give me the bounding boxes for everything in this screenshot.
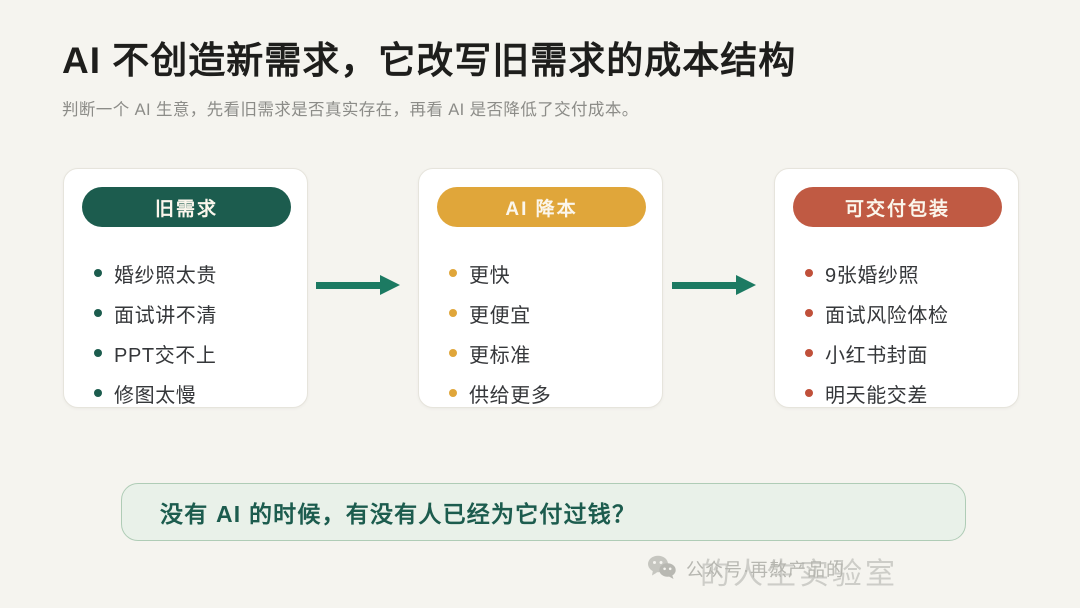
bullet-dot-icon <box>805 269 813 277</box>
list-item: 9张婚纱照 <box>805 253 1008 293</box>
card-badge-ai-cost-reduction: AI 降本 <box>437 187 646 227</box>
bullet-dot-icon <box>449 309 457 317</box>
list-item-label: 小红书封面 <box>825 339 928 368</box>
list-item: 更便宜 <box>449 293 652 333</box>
card-badge-old-demand: 旧需求 <box>82 187 291 227</box>
watermark-account-text: 公众号·再熬产品的 <box>686 556 845 582</box>
list-item-label: 供给更多 <box>469 379 551 408</box>
card-item-list-deliverable-package: 9张婚纱照 面试风险体检 小红书封面 明天能交差 <box>805 253 1008 413</box>
card-item-list-ai-cost-reduction: 更快 更便宜 更标准 供给更多 <box>449 253 652 413</box>
list-item-label: 明天能交差 <box>825 379 928 408</box>
list-item: 面试讲不清 <box>94 293 297 333</box>
arrow-shaft <box>316 282 384 289</box>
key-question-text: 没有 AI 的时候，有没有人已经为它付过钱？ <box>160 495 636 529</box>
wechat-icon <box>647 554 677 580</box>
list-item-label: 更快 <box>469 259 510 288</box>
list-item-label: 婚纱照太贵 <box>114 259 217 288</box>
list-item-label: 修图太慢 <box>114 379 196 408</box>
arrow-right-icon-1 <box>316 272 406 298</box>
bullet-dot-icon <box>805 349 813 357</box>
list-item: 修图太慢 <box>94 373 297 413</box>
bullet-dot-icon <box>94 349 102 357</box>
bullet-dot-icon <box>94 269 102 277</box>
bullet-dot-icon <box>94 389 102 397</box>
key-question-banner: 没有 AI 的时候，有没有人已经为它付过钱？ <box>121 483 966 541</box>
card-item-list-old-demand: 婚纱照太贵 面试讲不清 PPT交不上 修图太慢 <box>94 253 297 413</box>
arrow-head <box>736 275 756 295</box>
list-item: 更标准 <box>449 333 652 373</box>
bullet-dot-icon <box>94 309 102 317</box>
card-old-demand[interactable]: 旧需求 婚纱照太贵 面试讲不清 PPT交不上 修图太慢 <box>63 168 308 408</box>
list-item-label: 9张婚纱照 <box>825 259 919 288</box>
bullet-dot-icon <box>449 269 457 277</box>
list-item: 供给更多 <box>449 373 652 413</box>
card-ai-cost-reduction[interactable]: AI 降本 更快 更便宜 更标准 供给更多 <box>418 168 663 408</box>
list-item: PPT交不上 <box>94 333 297 373</box>
list-item: 更快 <box>449 253 652 293</box>
list-item: 小红书封面 <box>805 333 1008 373</box>
list-item: 面试风险体检 <box>805 293 1008 333</box>
list-item-label: PPT交不上 <box>114 339 217 368</box>
card-badge-deliverable-package: 可交付包装 <box>793 187 1002 227</box>
arrow-head <box>380 275 400 295</box>
list-item-label: 更标准 <box>469 339 531 368</box>
bullet-dot-icon <box>449 349 457 357</box>
list-item-label: 面试风险体检 <box>825 299 949 328</box>
cards-row: 旧需求 婚纱照太贵 面试讲不清 PPT交不上 修图太慢 AI 降本 <box>0 168 1080 413</box>
header: AI 不创造新需求，它改写旧需求的成本结构 判断一个 AI 生意，先看旧需求是否… <box>62 38 1022 120</box>
bullet-dot-icon <box>449 389 457 397</box>
list-item-label: 面试讲不清 <box>114 299 217 328</box>
arrow-right-icon-2 <box>672 272 762 298</box>
page-subtitle: 判断一个 AI 生意，先看旧需求是否真实存在，再看 AI 是否降低了交付成本。 <box>62 96 1022 120</box>
bullet-dot-icon <box>805 309 813 317</box>
arrow-shaft <box>672 282 740 289</box>
page-title: AI 不创造新需求，它改写旧需求的成本结构 <box>62 38 1022 84</box>
card-deliverable-package[interactable]: 可交付包装 9张婚纱照 面试风险体检 小红书封面 明天能交差 <box>774 168 1019 408</box>
list-item-label: 更便宜 <box>469 299 531 328</box>
list-item: 婚纱照太贵 <box>94 253 297 293</box>
list-item: 明天能交差 <box>805 373 1008 413</box>
bullet-dot-icon <box>805 389 813 397</box>
